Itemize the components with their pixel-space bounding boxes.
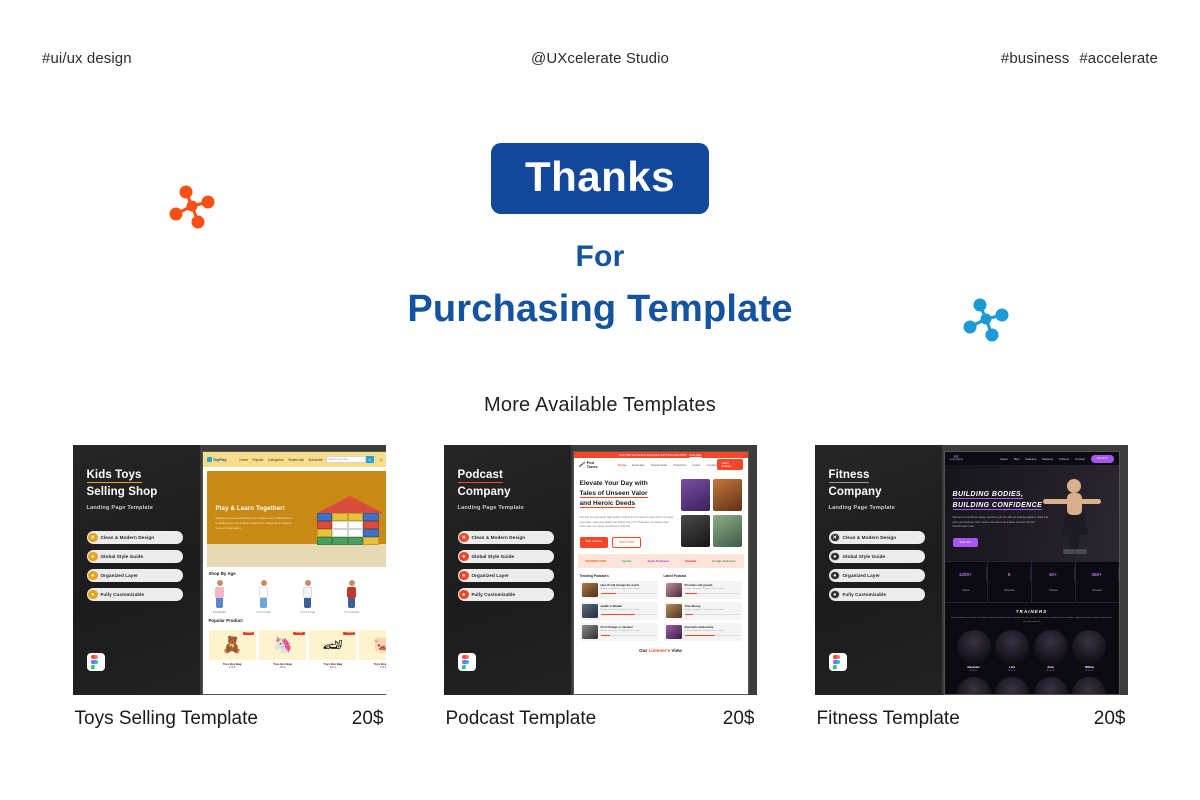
podcast-hero-text: Our aim is to generate high quality cont… [580, 516, 675, 531]
fitness-caption: Fitness Template 20$ [815, 708, 1128, 730]
feature-pill: ✕ Clean & Modern Design [87, 531, 183, 544]
menu-item[interactable]: Home [240, 458, 249, 462]
spotify-icon: Spotify [622, 559, 632, 563]
trending-title: Trending Podcast's [580, 574, 658, 578]
fitness-logo: FIT GYM FITNESS [950, 455, 964, 462]
item-thumb [582, 625, 598, 639]
trainers-row-2 [951, 677, 1113, 695]
thanks-badge: Thanks [491, 143, 709, 214]
podcast-list-item[interactable]: Priorities self growthMultiple categorie… [664, 581, 742, 599]
item-title: Health is Wealth [601, 604, 656, 608]
feature-label: Global Style Guide [101, 554, 144, 559]
podcast-list-item[interactable]: Time MoneyMultiple categories | Changes … [664, 602, 742, 620]
age-item[interactable]: 0-12 Months [211, 580, 229, 614]
progress-bar[interactable] [685, 614, 740, 616]
hashtag-business: #business [1001, 50, 1069, 67]
feature-label: Organized Layer [843, 573, 881, 578]
podcast-list-item[interactable]: Deal with relationshipMultiple categorie… [664, 623, 742, 641]
menu-item[interactable]: Subscribe [673, 463, 686, 467]
toys-hero-copy: Play & Learn Together! Welcome to a wond… [216, 505, 294, 531]
stat-item: 350+Reviews [1076, 562, 1119, 602]
podcast-lists: Trending Podcast's How AI will change th… [574, 568, 748, 644]
trainer-card[interactable]: Liam★★★ [993, 630, 1031, 672]
toys-navbar: ToyPlay Home Popular Categories Testimon… [203, 452, 386, 467]
watch-trailer-button[interactable]: Watch Trailer [612, 537, 641, 548]
product-card[interactable]: Trending🦄 Toys Box Bag 299 $ [259, 630, 306, 669]
feature-pill: ● Fully Customizable [458, 588, 554, 601]
feature-label: Fully Customizable [843, 592, 887, 597]
announcement-link[interactable]: Know More [690, 454, 702, 457]
trainer-avatar [1072, 630, 1106, 664]
trainer-avatar [957, 630, 991, 664]
feature-pill: ● Fully Customizable [87, 588, 183, 601]
menu-item[interactable]: Plan [1014, 457, 1020, 461]
rating-stars: ★★★ [1032, 669, 1070, 672]
listeners-view-title: Our Listener's View [574, 648, 748, 653]
progress-bar[interactable] [685, 635, 740, 637]
product-price: 299 $ [309, 666, 356, 669]
menu-item[interactable]: Episodes [632, 463, 644, 467]
product-grid: Trending🧸 Toys Box Bag 299 $ Trending🦄 T… [209, 630, 386, 669]
age-list: 0-12 Months 1 Yr to 3 Year 3 Yr to 5 Yea… [209, 580, 386, 614]
product-price: 299 $ [209, 666, 256, 669]
check-icon: ✕ [459, 533, 469, 543]
fitness-start-button[interactable]: Start Now [953, 538, 978, 547]
feature-pill: ✕ Clean & Modern Design [458, 531, 554, 544]
menu-item[interactable]: Features [1025, 457, 1036, 461]
item-meta: Multiple categories | Changes | Tech | L… [601, 588, 656, 590]
hero-section: Thanks For Purchasing Template [0, 143, 1200, 331]
product-image: Trending🐷 [359, 630, 385, 660]
photo-tile [713, 515, 742, 547]
toys-shop-by-age: Shop By Age 0-12 Months 1 Yr to 3 Year 3… [203, 571, 386, 669]
fitness-hero-text: Welcome to our fitness studio, transform… [953, 516, 1051, 530]
item-meta: Multiple categories | Changes | Tech | L… [685, 588, 740, 590]
item-meta: Multiple categories | Changes | Tech | L… [685, 630, 740, 632]
check-icon: ● [88, 590, 98, 600]
latest-column: Latest Podcast Priorities self growthMul… [664, 574, 742, 644]
menu-item[interactable]: Testimonial [288, 458, 304, 462]
template-card-podcast[interactable]: Podcast Company Landing Page Template ✕ … [444, 445, 757, 730]
section-title: More Available Templates [0, 394, 1200, 417]
cart-icon[interactable]: ⌂ [380, 457, 383, 463]
youtube-icon: Youtube [685, 559, 696, 563]
product-card[interactable]: Trending🧸 Toys Box Bag 299 $ [209, 630, 256, 669]
item-title: Deal with relationship [685, 625, 740, 629]
photo-tile [713, 479, 742, 511]
toys-title-line1: Kids Toys [87, 469, 142, 483]
product-price: 299 $ [359, 666, 385, 669]
toys-screen: ToyPlay Home Popular Categories Testimon… [202, 451, 386, 695]
fitness-screen: FIT GYM FITNESS Home Plan Features Revie… [944, 451, 1120, 695]
menu-item[interactable]: Reviews [1042, 457, 1053, 461]
podcast-info-panel: Podcast Company Landing Page Template ✕ … [444, 445, 571, 695]
hero-line-for: For [0, 240, 1200, 274]
feature-pill: ● Global Style Guide [87, 550, 183, 563]
toys-logo: ToyPlay [207, 457, 227, 462]
age-item[interactable]: 5 Yr to 8 Year [343, 580, 361, 614]
item-thumb [666, 604, 682, 618]
toys-browser-frame: ToyPlay Home Popular Categories Testimon… [200, 445, 386, 695]
toys-popular-header: Popular Product See More [209, 614, 386, 627]
check-icon: ● [830, 590, 840, 600]
toys-info-panel: Kids Toys Selling Shop Landing Page Temp… [73, 445, 200, 695]
feature-label: Organized Layer [101, 573, 139, 578]
podcast-browser-frame: Enjoy Offer Get Premium Subscription Jus… [571, 445, 757, 695]
feature-pill: ● Global Style Guide [458, 550, 554, 563]
trainers-text: Expert and fitness coaches are always de… [951, 617, 1113, 625]
product-image: Trending🏎 [309, 630, 356, 660]
feature-pill: ● Organized Layer [458, 569, 554, 582]
trainer-avatar [1034, 630, 1068, 664]
menu-item[interactable]: Subscribe [308, 458, 322, 462]
stat-item: 8Branches [988, 562, 1032, 602]
trainer-avatar [1034, 677, 1068, 695]
menu-item[interactable]: Contact [706, 463, 716, 467]
trainers-section: Trainers Expert and fitness coaches are … [945, 603, 1119, 695]
stat-item: 40+Trainers [1032, 562, 1076, 602]
feature-label: Fully Customizable [101, 592, 145, 597]
item-meta: Multiple categories | Changes | Tech | L… [601, 609, 656, 611]
fitness-hero-copy: Building Bodies, Building Confidence Wel… [953, 489, 1051, 548]
item-title: First Change or mindset [601, 625, 656, 629]
podcast-title-line2: Company [458, 486, 511, 498]
trainer-card[interactable]: Alexander★★★ [955, 630, 993, 672]
toys-hero: Play & Learn Together! Welcome to a wond… [207, 471, 386, 567]
hashtag-accelerate: #accelerate [1079, 50, 1158, 67]
toys-panel-subtitle: Landing Page Template [87, 505, 190, 511]
thank-you-slide: #ui/ux design @UXcelerate Studio #busine… [0, 0, 1200, 800]
fitness-stats-row: 1250+Clients 8Branches 40+Trainers 350+R… [945, 561, 1119, 603]
rating-stars: ★★★ [955, 669, 993, 672]
feature-label: Clean & Modern Design [843, 535, 897, 540]
item-title: Priorities self growth [685, 583, 740, 587]
podcast-feature-list: ✕ Clean & Modern Design ● Global Style G… [458, 531, 561, 601]
trainer-card[interactable] [993, 677, 1031, 695]
toys-menu: Home Popular Categories Testimonial Subs… [240, 458, 323, 462]
menu-item[interactable]: Guest [692, 463, 700, 467]
platform-logos: SOUNDCLOUD Spotify Apple Podcasts Youtub… [578, 554, 744, 568]
latest-title: Latest Podcast [664, 574, 742, 578]
menu-item[interactable]: Testimonials [651, 463, 668, 467]
product-badge: Trending [343, 632, 355, 635]
google-podcasts-icon: Google Podcasts [712, 559, 736, 563]
fitness-mockup: Fitness Company Landing Page Template ✕ … [815, 445, 1128, 695]
product-card[interactable]: Trending🐷 Toys Box Bag 299 $ [359, 630, 385, 669]
check-icon: ● [459, 590, 469, 600]
template-name: Fitness Template [817, 708, 960, 730]
trainer-card[interactable] [1070, 677, 1108, 695]
trainer-avatar [995, 677, 1029, 695]
hashtag-group: #business #accelerate [1001, 50, 1158, 67]
trainer-card[interactable]: William★★★ [1070, 630, 1108, 672]
check-icon: ● [459, 552, 469, 562]
trainer-avatar [957, 677, 991, 695]
menu-item[interactable]: Contact [1075, 457, 1085, 461]
template-price: 20$ [723, 708, 755, 730]
product-image: Trending🧸 [209, 630, 256, 660]
fitness-menu: Home Plan Features Reviews Trainers Cont… [1000, 457, 1085, 461]
menu-item[interactable]: Trainers [1059, 457, 1069, 461]
product-price: 299 $ [259, 666, 306, 669]
podcast-photo-grid [681, 479, 742, 548]
podcast-caption: Podcast Template 20$ [444, 708, 757, 730]
podcast-mockup: Podcast Company Landing Page Template ✕ … [444, 445, 757, 695]
check-icon: ● [830, 571, 840, 581]
fitness-title-line1: Fitness [829, 469, 870, 483]
progress-bar[interactable] [601, 635, 656, 637]
soundcloud-icon: SOUNDCLOUD [585, 559, 606, 563]
apple-podcasts-icon: Apple Podcasts [647, 559, 669, 563]
item-title: Time Money [685, 604, 740, 608]
podcast-list-item[interactable]: First Change or mindsetMultiple categori… [580, 623, 658, 641]
product-badge: Trending [293, 632, 305, 635]
menu-item[interactable]: Home [1000, 457, 1007, 461]
toys-caption: Toys Selling Template 20$ [73, 708, 386, 730]
check-icon: ✕ [830, 533, 840, 543]
template-cards-row: Kids Toys Selling Shop Landing Page Temp… [0, 445, 1200, 730]
feature-label: Global Style Guide [843, 554, 886, 559]
toys-hero-text: Welcome to a wonderland of toys where ev… [216, 516, 294, 531]
fitness-title-line2: Company [829, 486, 882, 498]
start-listening-button[interactable]: Start Listening [580, 537, 609, 548]
stat-item: 1250+Clients [945, 562, 989, 602]
header-bar: #ui/ux design @UXcelerate Studio #busine… [0, 44, 1200, 72]
rating-stars: ★★★ [1070, 669, 1108, 672]
item-meta: Multiple categories | Changes | Tech | L… [601, 630, 656, 632]
item-thumb [666, 625, 682, 639]
item-thumb [582, 604, 598, 618]
feature-label: Fully Customizable [472, 592, 516, 597]
trainers-title: Trainers [951, 609, 1113, 614]
toys-feature-list: ✕ Clean & Modern Design ● Global Style G… [87, 531, 190, 601]
podcast-title-line1: Podcast [458, 469, 503, 483]
figma-logo-icon [458, 653, 476, 671]
menu-item[interactable]: Home [618, 463, 626, 467]
check-icon: ● [830, 552, 840, 562]
podcast-navbar: 🎤Pod Tunes Home Episodes Testimonials Su… [574, 458, 748, 471]
fitness-panel-title: Fitness Company [829, 467, 932, 500]
fitness-feature-list: ✕ Clean & Modern Design ● Global Style G… [829, 531, 932, 601]
podcast-hero: Elevate Your Day with Tales of Unseen Va… [574, 471, 748, 552]
item-thumb [666, 583, 682, 597]
fitness-navbar: FIT GYM FITNESS Home Plan Features Revie… [945, 452, 1119, 465]
feature-pill: ✕ Clean & Modern Design [829, 531, 925, 544]
toys-hero-title: Play & Learn Together! [216, 505, 294, 512]
podcast-hero-title: Elevate Your Day with Tales of Unseen Va… [580, 479, 675, 510]
fitness-info-panel: Fitness Company Landing Page Template ✕ … [815, 445, 942, 695]
check-icon: ✕ [88, 533, 98, 543]
progress-bar[interactable] [601, 593, 656, 595]
podcast-panel-subtitle: Landing Page Template [458, 505, 561, 511]
lego-house-image [317, 496, 379, 545]
template-card-toys[interactable]: Kids Toys Selling Shop Landing Page Temp… [73, 445, 386, 730]
toys-title-line2: Selling Shop [87, 486, 158, 498]
toys-panel-title: Kids Toys Selling Shop [87, 467, 190, 500]
item-meta: Multiple categories | Changes | Tech | L… [685, 609, 740, 611]
trainer-card[interactable] [1032, 677, 1070, 695]
trainer-avatar [995, 630, 1029, 664]
trainer-card[interactable]: Peter★★★ [1032, 630, 1070, 672]
check-icon: ● [459, 571, 469, 581]
menu-item[interactable]: Categories [268, 458, 283, 462]
toys-section-title-1: Shop By Age [209, 571, 386, 576]
figma-logo-icon [829, 653, 847, 671]
feature-pill: ● Organized Layer [87, 569, 183, 582]
announcement-text: Enjoy Offer Get Premium Subscription Jus… [619, 454, 686, 457]
trainers-row: Alexander★★★ Liam★★★ Peter★★★ William★★★ [951, 630, 1113, 672]
template-name: Podcast Template [446, 708, 597, 730]
progress-bar[interactable] [685, 593, 740, 595]
toys-section-title-2: Popular Product [209, 618, 243, 623]
feature-pill: ● Organized Layer [829, 569, 925, 582]
fitness-join-button[interactable]: Join Now [1091, 455, 1114, 463]
check-icon: ● [88, 571, 98, 581]
product-image: Trending🦄 [259, 630, 306, 660]
fitness-hero: Building Bodies, Building Confidence Wel… [945, 465, 1119, 561]
check-icon: ● [88, 552, 98, 562]
feature-label: Clean & Modern Design [101, 535, 155, 540]
feature-label: Clean & Modern Design [472, 535, 526, 540]
podcast-list-item[interactable]: Health is WealthMultiple categories | Ch… [580, 602, 658, 620]
trending-column: Trending Podcast's How AI will change th… [580, 574, 658, 644]
podcast-logo: 🎤Pod Tunes [579, 461, 604, 469]
item-title: How AI will change the world [601, 583, 656, 587]
progress-bar[interactable] [601, 614, 656, 616]
age-item[interactable]: 3 Yr to 5 Year [299, 580, 317, 614]
template-name: Toys Selling Template [75, 708, 258, 730]
fitness-hero-title: Building Bodies, Building Confidence [953, 489, 1051, 511]
photo-tile [681, 515, 710, 547]
template-price: 20$ [352, 708, 384, 730]
trainer-card[interactable] [955, 677, 993, 695]
podcast-hero-copy: Elevate Your Day with Tales of Unseen Va… [580, 479, 675, 548]
feature-pill: ● Global Style Guide [829, 550, 925, 563]
trainer-avatar [1072, 677, 1106, 695]
podcast-menu: Home Episodes Testimonials Subscribe Gue… [618, 463, 717, 467]
age-item[interactable]: 1 Yr to 3 Year [255, 580, 273, 614]
podcast-screen: Enjoy Offer Get Premium Subscription Jus… [573, 451, 749, 695]
toys-mockup: Kids Toys Selling Shop Landing Page Temp… [73, 445, 386, 695]
feature-label: Global Style Guide [472, 554, 515, 559]
product-card[interactable]: Trending🏎 Toys Box Bag 299 $ [309, 630, 356, 669]
toys-search[interactable]: Search toys here ⌕ [326, 456, 374, 463]
rating-stars: ★★★ [993, 669, 1031, 672]
feature-pill: ● Fully Customizable [829, 588, 925, 601]
podcast-cta-button[interactable]: Listen Podcast [717, 459, 743, 470]
figma-logo-icon [87, 653, 105, 671]
fitness-browser-frame: FIT GYM FITNESS Home Plan Features Revie… [942, 445, 1128, 695]
fitness-panel-subtitle: Landing Page Template [829, 505, 932, 511]
item-thumb [582, 583, 598, 597]
podcast-list-item[interactable]: How AI will change the worldMultiple cat… [580, 581, 658, 599]
podcast-hero-buttons: Start Listening Watch Trailer [580, 537, 675, 548]
menu-item[interactable]: Popular [253, 458, 264, 462]
podcast-panel-title: Podcast Company [458, 467, 561, 500]
hero-line-purchasing: Purchasing Template [0, 288, 1200, 331]
search-input[interactable]: Search toys here [326, 456, 366, 463]
template-price: 20$ [1094, 708, 1126, 730]
hero-floor [207, 544, 386, 567]
search-icon[interactable]: ⌕ [366, 456, 374, 463]
photo-tile [681, 479, 710, 511]
feature-label: Organized Layer [472, 573, 510, 578]
product-badge: Trending [243, 632, 255, 635]
template-card-fitness[interactable]: Fitness Company Landing Page Template ✕ … [815, 445, 1128, 730]
